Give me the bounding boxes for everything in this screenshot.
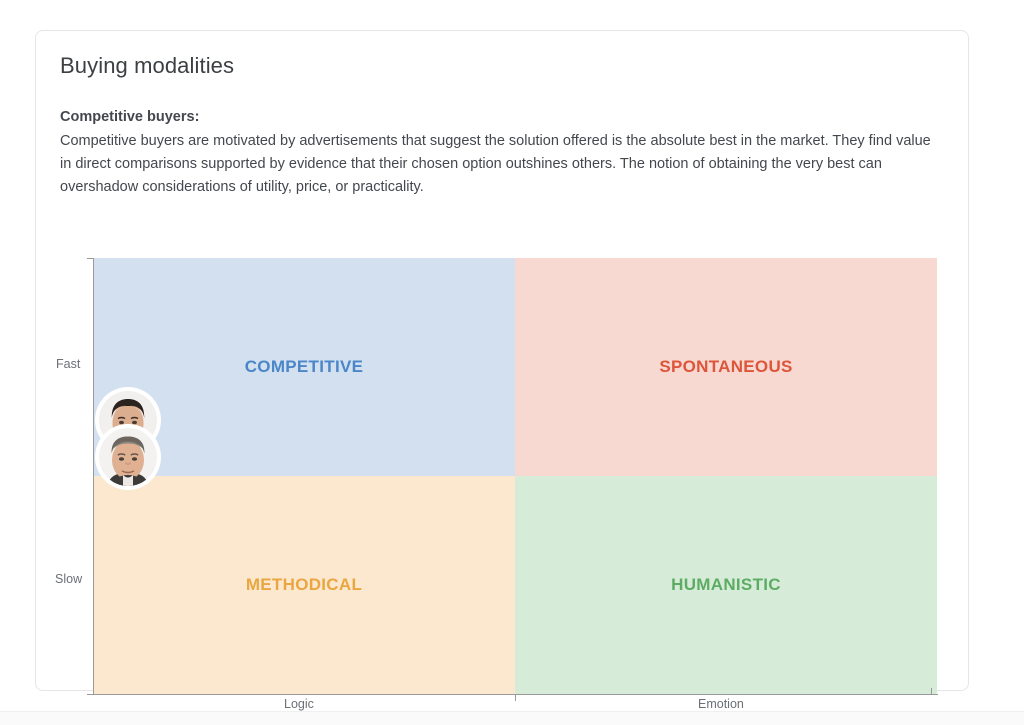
avatar-person-2[interactable] bbox=[99, 428, 157, 486]
x-axis-label-logic: Logic bbox=[284, 697, 314, 711]
page-title: Buying modalities bbox=[60, 53, 234, 79]
x-axis-tick-middle bbox=[515, 694, 516, 701]
y-axis-label-slow: Slow bbox=[55, 572, 82, 586]
x-axis-tick-left bbox=[87, 694, 94, 695]
quadrant-plot-area: COMPETITIVE SPONTANEOUS METHODICAL HUMAN… bbox=[93, 258, 937, 694]
x-axis-tick-right bbox=[931, 688, 932, 695]
quadrant-methodical[interactable]: METHODICAL bbox=[93, 476, 515, 694]
buying-modalities-card: Buying modalities Competitive buyers: Co… bbox=[35, 30, 969, 691]
y-axis-label-fast: Fast bbox=[56, 357, 80, 371]
y-axis-tick-top bbox=[87, 258, 94, 259]
quadrant-competitive[interactable]: COMPETITIVE bbox=[93, 258, 515, 476]
avatar-person-2-image bbox=[99, 428, 157, 486]
x-axis-label-emotion: Emotion bbox=[698, 697, 744, 711]
description-heading: Competitive buyers: bbox=[60, 106, 944, 129]
quadrant-label-humanistic: HUMANISTIC bbox=[515, 575, 937, 595]
buying-modalities-quadrant-chart: COMPETITIVE SPONTANEOUS METHODICAL HUMAN… bbox=[36, 181, 968, 689]
quadrant-label-competitive: COMPETITIVE bbox=[93, 357, 515, 377]
page-bottom-strip bbox=[0, 711, 1024, 725]
y-axis-line bbox=[93, 258, 94, 694]
page-root: Buying modalities Competitive buyers: Co… bbox=[0, 0, 1024, 724]
quadrant-spontaneous[interactable]: SPONTANEOUS bbox=[515, 258, 937, 476]
quadrant-label-methodical: METHODICAL bbox=[93, 575, 515, 595]
quadrant-label-spontaneous: SPONTANEOUS bbox=[515, 357, 937, 377]
quadrant-humanistic[interactable]: HUMANISTIC bbox=[515, 476, 937, 694]
